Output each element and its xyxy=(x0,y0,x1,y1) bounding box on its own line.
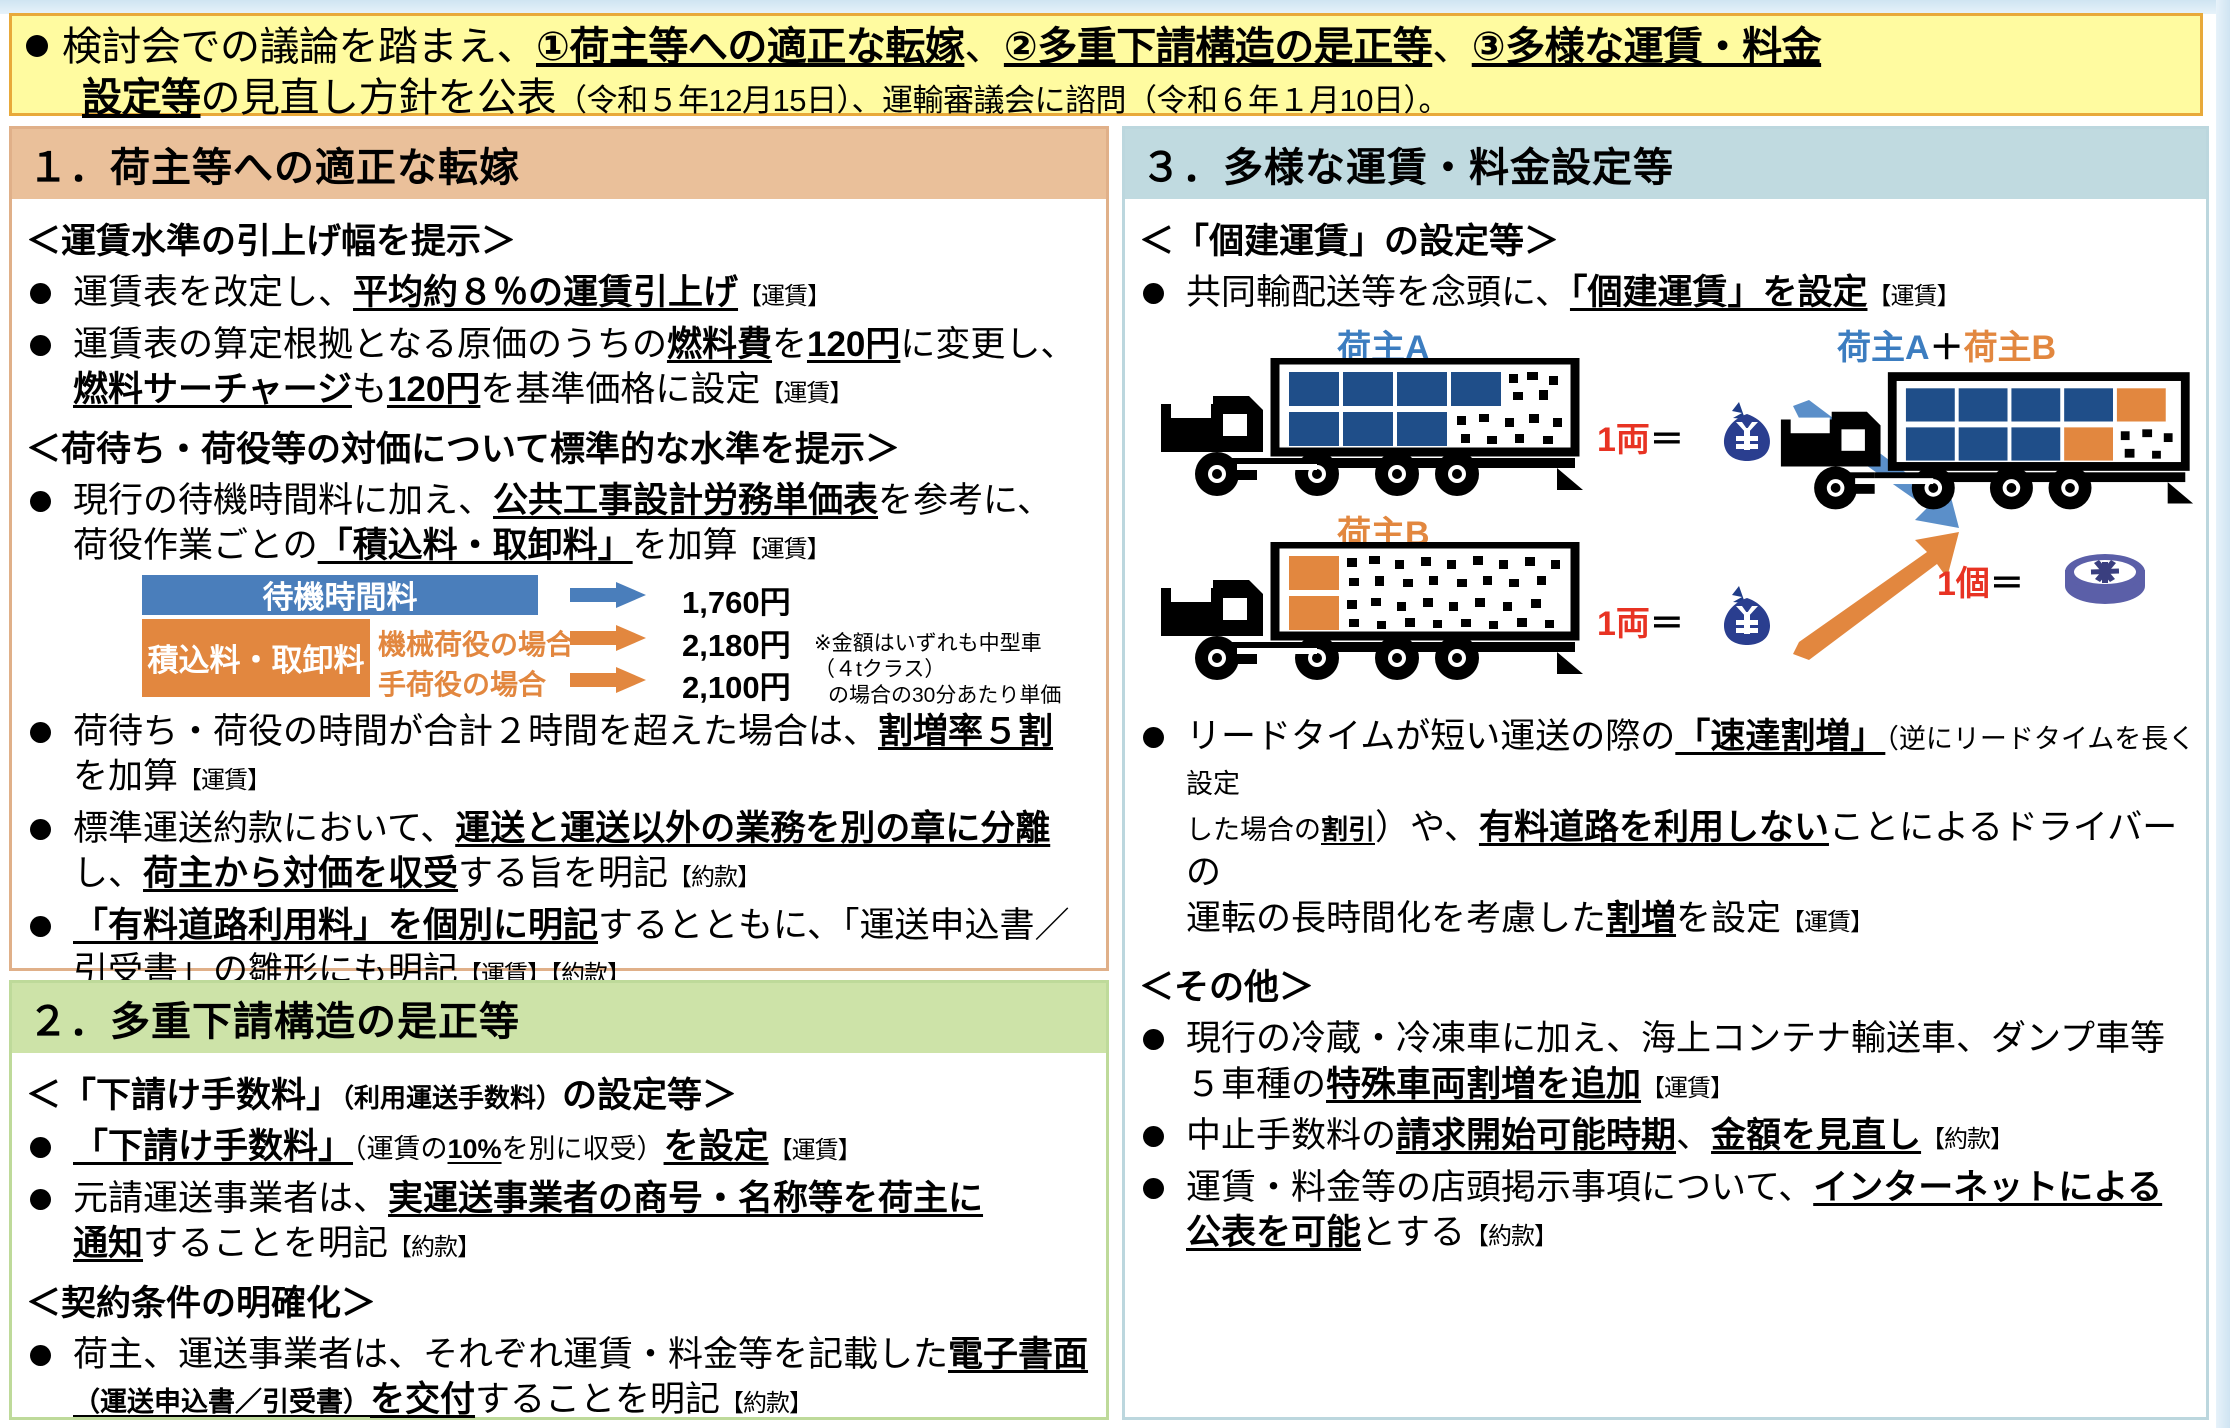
fee-table-footnote: ※金額はいずれも中型車（４tクラス） の場合の30分あたり単価 xyxy=(814,631,1064,710)
s3-b3-a: 現行の冷蔵・冷凍車に加え、海上コンテナ輸送車、ダンプ車等 xyxy=(1186,1019,2165,1058)
s3-b2-tag: 【運賃】 xyxy=(1781,909,1873,936)
list-item: 運賃表を改定し、平均約８％の運賃引上げ【運賃】 xyxy=(24,270,1096,316)
unit-label-vehicle-a: 1両＝ xyxy=(1597,412,1684,461)
header-item-2: ②多重下請構造の是正等 xyxy=(1004,25,1432,69)
s3-b3-tag: 【運賃】 xyxy=(1641,1075,1733,1102)
s3-b2-f: ）や、 xyxy=(1375,808,1479,847)
right-decor-strip xyxy=(2216,0,2230,1428)
s3-b2-b: 「速達割増」 xyxy=(1675,717,1885,756)
s1-b5-tag: 【約款】 xyxy=(668,864,760,891)
s2-sub1-c: の設定等＞ xyxy=(562,1076,737,1115)
s1-b2-d: 120円 xyxy=(807,325,900,364)
list-item: 「下請け手数料」（運賃の10%を別に収受）を設定【運賃】 xyxy=(24,1124,1096,1170)
fee-amount-hand: 2,100円 xyxy=(682,662,791,707)
s1-b3-e: 「積込料・取卸料」 xyxy=(318,526,633,565)
s1-b3-tag: 【運賃】 xyxy=(738,536,830,563)
section-1-panel: １．荷主等への適正な転嫁 ＜運賃水準の引上げ幅を提示＞ 運賃表を改定し、平均約８… xyxy=(9,126,1109,971)
section-1-sub-2: ＜荷待ち・荷役等の対価について標準的な水準を提示＞ xyxy=(26,421,1096,472)
s3-b4-tag: 【約款】 xyxy=(1921,1126,2013,1153)
kodate-unyou-diagram: 荷主A 荷主B 荷主A＋荷主B xyxy=(1137,320,2197,700)
s3-b4-b: 請求開始可能時期 xyxy=(1396,1116,1676,1155)
bullet-icon xyxy=(1143,727,1164,748)
s2-b3-b: 電子書面 xyxy=(948,1335,1088,1374)
list-item: 標準運送約款において、運送と運送以外の業務を別の章に分離し、荷主から対価を収受す… xyxy=(24,806,1096,897)
s1-b1-tag: 【運賃】 xyxy=(738,283,830,310)
s2-b1-tag: 【運賃】 xyxy=(769,1137,861,1164)
s3-b2-e: 割引 xyxy=(1321,815,1375,845)
bullet-icon xyxy=(30,335,51,356)
section-1-sub-1: ＜運賃水準の引上げ幅を提示＞ xyxy=(26,213,1096,264)
s1-b2-c: を xyxy=(772,325,807,364)
bullet-icon xyxy=(30,722,51,743)
s3-b5-a: 運賃・料金等の店頭掲示事項について、 xyxy=(1186,1168,1813,1207)
s2-b3-d: を交付 xyxy=(370,1380,475,1419)
arrow-right-icon xyxy=(570,625,648,651)
s2-b3-a: 荷主、運送事業者は、それぞれ運賃・料金等を記載した xyxy=(73,1335,948,1374)
fee-note-line-1: ※金額はいずれも中型車（４tクラス） xyxy=(814,632,1042,681)
s2-b1-a: 「下請け手数料」 xyxy=(73,1127,353,1166)
section-2-title: ２．多重下請構造の是正等 xyxy=(12,983,1106,1053)
list-item: 荷待ち・荷役の時間が合計２時間を超えた場合は、割増率５割を加算【運賃】 xyxy=(24,709,1096,800)
s2-b3-tag: 【約款】 xyxy=(720,1390,812,1417)
s1-b2-tag: 【運賃】 xyxy=(760,380,852,407)
unit-label-piece: 1個＝ xyxy=(1937,556,2024,605)
section-2-sub-1: ＜「下請け手数料」（利用運送手数料）の設定等＞ xyxy=(26,1067,1096,1118)
s1-b3-c: を参考に、 xyxy=(878,481,1052,520)
fee-note-line-2: の場合の30分あたり単価 xyxy=(814,683,1061,709)
s3-b1-tag: 【運賃】 xyxy=(1867,283,1959,310)
s1-b4-tag: 【運賃】 xyxy=(178,767,270,794)
s2-b2-c: 通知 xyxy=(73,1224,143,1263)
s3-b5-b: インターネットによる xyxy=(1813,1168,2162,1207)
s2-b1-c: 10% xyxy=(448,1134,502,1164)
s1-b2-f: 燃料サーチャージ xyxy=(73,370,352,409)
header-item-1: ①荷主等への適正な転嫁 xyxy=(536,25,964,69)
arrow-right-icon xyxy=(570,667,648,693)
s3-b4-a: 中止手数料の xyxy=(1186,1116,1396,1155)
s2-b3-c: （運送申込書／引受書） xyxy=(73,1387,370,1417)
bullet-icon xyxy=(1143,1029,1164,1050)
s1-b2-a: 運賃表の算定根拠となる原価のうちの xyxy=(73,325,667,364)
s1-b2-g: も xyxy=(352,370,387,409)
list-item: 元請運送事業者は、実運送事業者の商号・名称等を荷主に通知することを明記【約款】 xyxy=(24,1176,1096,1267)
s3-b1-b: 「個建運賃」を設定 xyxy=(1570,273,1868,312)
s3-b1-a: 共同輸配送等を念頭に、 xyxy=(1186,273,1570,312)
s1-b1-a: 運賃表を改定し、 xyxy=(73,273,353,312)
section-3-sub-2: ＜その他＞ xyxy=(1139,959,2196,1010)
section-3-title: ３．多様な運賃・料金設定等 xyxy=(1125,129,2206,199)
money-bag-yen-icon xyxy=(1717,582,1777,646)
bullet-icon xyxy=(1143,1178,1164,1199)
s2-b2-b: 実運送事業者の商号・名称等を荷主に xyxy=(388,1179,983,1218)
s1-b5-e: する旨を明記 xyxy=(458,854,668,893)
bullet-icon xyxy=(30,916,51,937)
s2-b1-d: を別に収受） xyxy=(502,1134,664,1164)
fee-bar-waiting: 待機時間料 xyxy=(142,575,538,615)
fee-sub-machine: 機械荷役の場合 xyxy=(378,623,574,663)
diagram-label-combined: 荷主A＋荷主B xyxy=(1837,320,2056,369)
fee-sub-hand: 手荷役の場合 xyxy=(378,663,546,703)
header-item-3: ③多様な運賃・料金 xyxy=(1472,25,1821,69)
s3-b5-c: 公表を可能 xyxy=(1186,1213,1361,1252)
s3-b2-j: 割増 xyxy=(1606,899,1676,938)
s2-b2-a: 元請運送事業者は、 xyxy=(73,1179,388,1218)
header-sep-1: 、 xyxy=(964,25,1004,69)
s2-sub1-b: （利用運送手数料） xyxy=(341,1083,562,1113)
list-item: 現行の冷蔵・冷凍車に加え、海上コンテナ輸送車、ダンプ車等５車種の特殊車両割増を追… xyxy=(1137,1016,2196,1107)
s1-b6-b: するとともに、「運送申込書／ xyxy=(598,906,1069,945)
fee-amount-machine: 2,180円 xyxy=(682,620,791,665)
list-item: 中止手数料の請求開始可能時期、金額を見直し【約款】 xyxy=(1137,1113,2196,1159)
s1-b5-d: 荷主から対価を収受 xyxy=(143,854,458,893)
s1-b4-b: 割増率５割 xyxy=(878,712,1053,751)
bullet-icon xyxy=(30,1189,51,1210)
list-item: 運賃表の算定根拠となる原価のうちの燃料費を120円に変更し、燃料サーチャージも1… xyxy=(24,322,1096,413)
s1-b3-d: 荷役作業ごとの xyxy=(73,526,318,565)
truck-shipper-a-icon xyxy=(1157,358,1587,498)
s2-b2-d: することを明記 xyxy=(143,1224,388,1263)
header-callout-box: 検討会での議論を踏まえ、①荷主等への適正な転嫁、②多重下請構造の是正等、③多様な… xyxy=(9,13,2203,116)
s3-b3-b: ５車種の xyxy=(1186,1065,1326,1104)
fee-comparison-table: 待機時間料 積込料・取卸料 機械荷役の場合 手荷役の場合 1,760円 2,18… xyxy=(142,575,1042,703)
s2-b1-b: （運賃の xyxy=(353,1134,448,1164)
s1-b3-a: 現行の待機時間料に加え、 xyxy=(73,481,493,520)
s3-b2-a: リードタイムが短い運送の際の xyxy=(1186,717,1675,756)
s2-b2-tag: 【約款】 xyxy=(388,1234,480,1261)
s2-sub1-a: ＜「下請け手数料」 xyxy=(26,1076,341,1115)
s1-b3-f: を加算 xyxy=(633,526,738,565)
s3-b2-g: 有料道路を利用しない xyxy=(1479,808,1829,847)
s2-b1-e: を設定 xyxy=(664,1127,769,1166)
list-item: 運賃・料金等の店頭掲示事項について、インターネットによる公表を可能とする【約款】 xyxy=(1137,1165,2196,1256)
header-bullet-icon xyxy=(26,35,48,57)
fee-bar-loading: 積込料・取卸料 xyxy=(142,619,370,697)
fee-amount-waiting: 1,760円 xyxy=(682,577,791,622)
section-3-panel: ３．多様な運賃・料金設定等 ＜「個建運賃」の設定等＞ 共同輸配送等を念頭に、「個… xyxy=(1122,126,2209,1420)
s3-b2-d: した場合の xyxy=(1186,815,1321,845)
s3-b5-tag: 【約款】 xyxy=(1465,1223,1557,1250)
bullet-icon xyxy=(30,491,51,512)
s1-b4-a: 荷待ち・荷役の時間が合計２時間を超えた場合は、 xyxy=(73,712,878,751)
coin-icon xyxy=(2057,548,2153,610)
header-dates: （令和５年12月15日）、運輸審議会に諮問（令和６年１月10日）。 xyxy=(556,83,1449,118)
s3-b3-c: 特殊車両割増を追加 xyxy=(1326,1065,1641,1104)
top-decor-strip xyxy=(0,0,2230,14)
bullet-icon xyxy=(1143,283,1164,304)
section-2-sub-2: ＜契約条件の明確化＞ xyxy=(26,1275,1096,1326)
s1-b3-b: 公共工事設計労務単価表 xyxy=(493,481,878,520)
s3-b4-d: 金額を見直し xyxy=(1711,1116,1921,1155)
s1-b5-a: 標準運送約款において、 xyxy=(73,809,455,848)
bullet-icon xyxy=(30,1345,51,1366)
s1-b2-e: に変更し、 xyxy=(900,325,1075,364)
s3-b5-d: とする xyxy=(1361,1213,1465,1252)
truck-shipper-b-icon xyxy=(1157,542,1587,682)
s1-b4-c: を加算 xyxy=(73,757,178,796)
s1-b2-h: 120円 xyxy=(387,370,480,409)
truck-combined-icon xyxy=(1777,368,2197,518)
bullet-icon xyxy=(30,819,51,840)
s1-b2-i: を基準価格に設定 xyxy=(480,370,760,409)
header-item-3-cont: 設定等 xyxy=(82,76,201,120)
s3-b4-c: 、 xyxy=(1676,1116,1711,1155)
bullet-icon xyxy=(30,1137,51,1158)
s1-b5-b: 運送と運送以外の業務を別の章に分離 xyxy=(455,809,1050,848)
arrow-right-icon xyxy=(570,582,648,608)
section-1-title: １．荷主等への適正な転嫁 xyxy=(12,129,1106,199)
s3-b2-i: 運転の長時間化を考慮した xyxy=(1186,899,1606,938)
s2-b3-e: することを明記 xyxy=(475,1380,720,1419)
s1-b6-a: 「有料道路利用料」を個別に明記 xyxy=(73,906,598,945)
s3-b2-k: を設定 xyxy=(1676,899,1781,938)
section-3-sub-1: ＜「個建運賃」の設定等＞ xyxy=(1139,213,2196,264)
unit-label-vehicle-b: 1両＝ xyxy=(1597,596,1684,645)
bullet-icon xyxy=(1143,1126,1164,1147)
bullet-icon xyxy=(30,283,51,304)
header-sep-2: 、 xyxy=(1432,25,1472,69)
s1-b2-b: 燃料費 xyxy=(667,325,772,364)
list-item: 現行の待機時間料に加え、公共工事設計労務単価表を参考に、荷役作業ごとの「積込料・… xyxy=(24,478,1096,569)
list-item: 荷主、運送事業者は、それぞれ運賃・料金等を記載した電子書面（運送申込書／引受書）… xyxy=(24,1332,1096,1423)
s1-b1-highlight: 平均約８％の運賃引上げ xyxy=(353,273,738,312)
header-text-b: の見直し方針を公表 xyxy=(201,76,557,120)
header-text-a: 検討会での議論を踏まえ、 xyxy=(62,25,536,69)
list-item: リードタイムが短い運送の際の「速達割増」（逆にリードタイムを長く設定した場合の割… xyxy=(1137,714,2196,942)
s1-b5-c: し、 xyxy=(73,854,143,893)
money-bag-yen-icon xyxy=(1717,398,1777,462)
list-item: 共同輸配送等を念頭に、「個建運賃」を設定【運賃】 xyxy=(1137,270,2196,316)
section-2-panel: ２．多重下請構造の是正等 ＜「下請け手数料」（利用運送手数料）の設定等＞ 「下請… xyxy=(9,980,1109,1420)
